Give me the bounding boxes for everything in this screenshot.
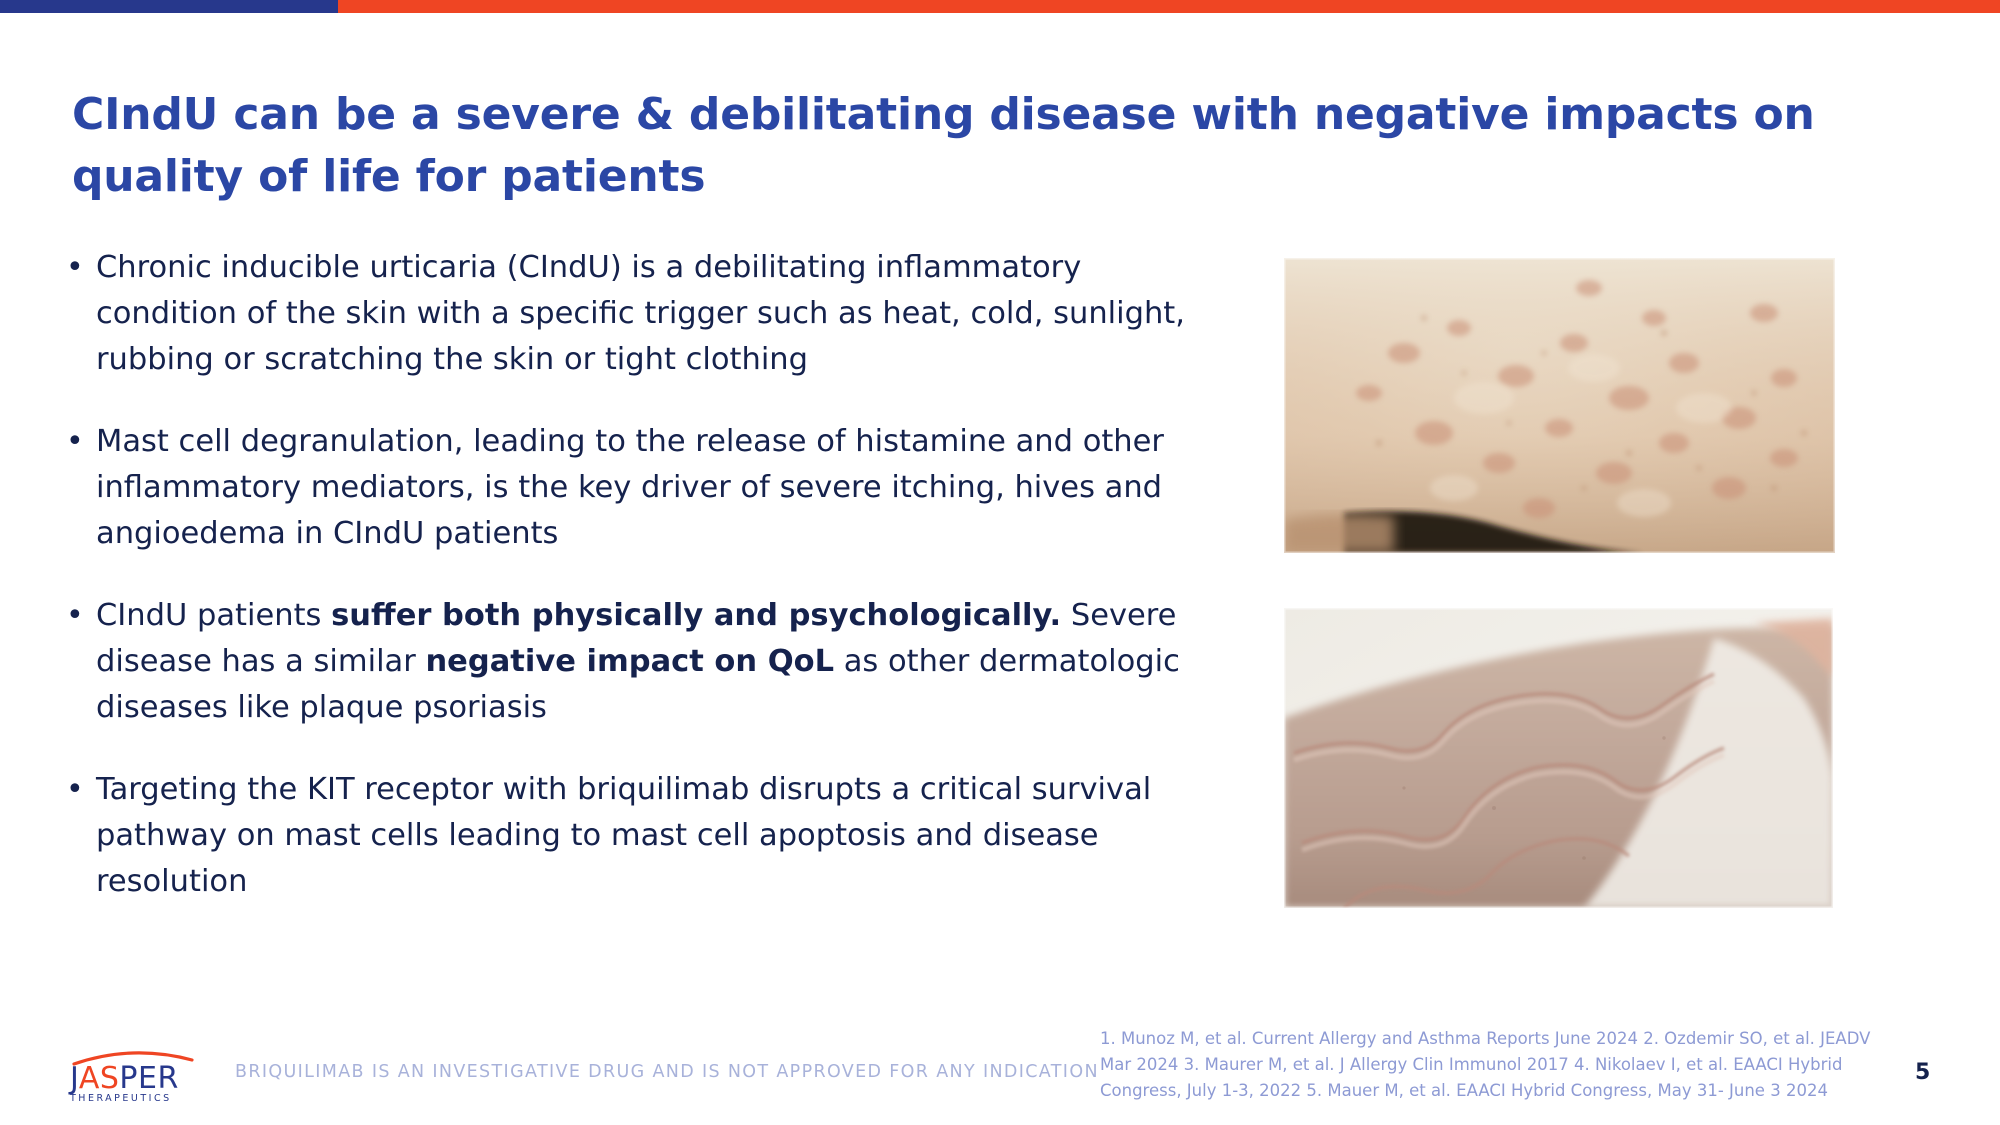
- bullet-marker-icon: •: [62, 593, 96, 639]
- dermographism-forearm-photo: [1284, 608, 1833, 908]
- references-list: 1. Munoz M, et al. Current Allergy and A…: [1100, 1026, 1890, 1104]
- bullet-run: Mast cell degranulation, leading to the …: [96, 424, 1164, 551]
- investigational-drug-disclaimer: BRIQUILIMAB IS AN INVESTIGATIVE DRUG AND…: [235, 1062, 1099, 1082]
- bullet-emphasis: negative impact on QoL: [425, 644, 834, 679]
- jasper-logo-graphic: JASPER THERAPEUTICS: [62, 1046, 202, 1106]
- page-title: CIndU can be a severe & debilitating dis…: [72, 84, 1912, 208]
- bullet-run: Targeting the KIT receptor with briquili…: [96, 772, 1151, 899]
- bullet-run: CIndU patients: [96, 598, 331, 633]
- svg-text:JASPER: JASPER: [68, 1061, 179, 1096]
- bullet-item: •Mast cell degranulation, leading to the…: [62, 419, 1192, 557]
- bullet-item: •Chronic inducible urticaria (CIndU) is …: [62, 245, 1192, 383]
- top-accent-bar-blue: [0, 0, 338, 13]
- bullet-marker-icon: •: [62, 419, 96, 465]
- bullet-item: •Targeting the KIT receptor with briquil…: [62, 767, 1192, 905]
- page-number: 5: [1915, 1060, 1930, 1085]
- hives-skin-graphic: [1284, 258, 1835, 553]
- bullet-item-text: Targeting the KIT receptor with briquili…: [96, 767, 1192, 905]
- bullet-run: Chronic inducible urticaria (CIndU) is a…: [96, 250, 1185, 377]
- bullet-item-text: CIndU patients suffer both physically an…: [96, 593, 1192, 731]
- bullet-emphasis: suffer both physically and psychological…: [331, 598, 1061, 633]
- svg-text:THERAPEUTICS: THERAPEUTICS: [69, 1093, 172, 1104]
- bullet-item: •CIndU patients suffer both physically a…: [62, 593, 1192, 731]
- bullet-list: •Chronic inducible urticaria (CIndU) is …: [62, 245, 1192, 905]
- hives-skin-closeup-photo: [1284, 258, 1835, 553]
- jasper-therapeutics-logo: JASPER THERAPEUTICS: [62, 1046, 202, 1106]
- dermographism-graphic: [1284, 608, 1833, 908]
- top-accent-bar-orange: [338, 0, 2000, 13]
- top-accent-bar: [0, 0, 2000, 13]
- bullet-item-text: Chronic inducible urticaria (CIndU) is a…: [96, 245, 1192, 383]
- bullet-marker-icon: •: [62, 245, 96, 291]
- bullet-item-text: Mast cell degranulation, leading to the …: [96, 419, 1192, 557]
- bullet-marker-icon: •: [62, 767, 96, 813]
